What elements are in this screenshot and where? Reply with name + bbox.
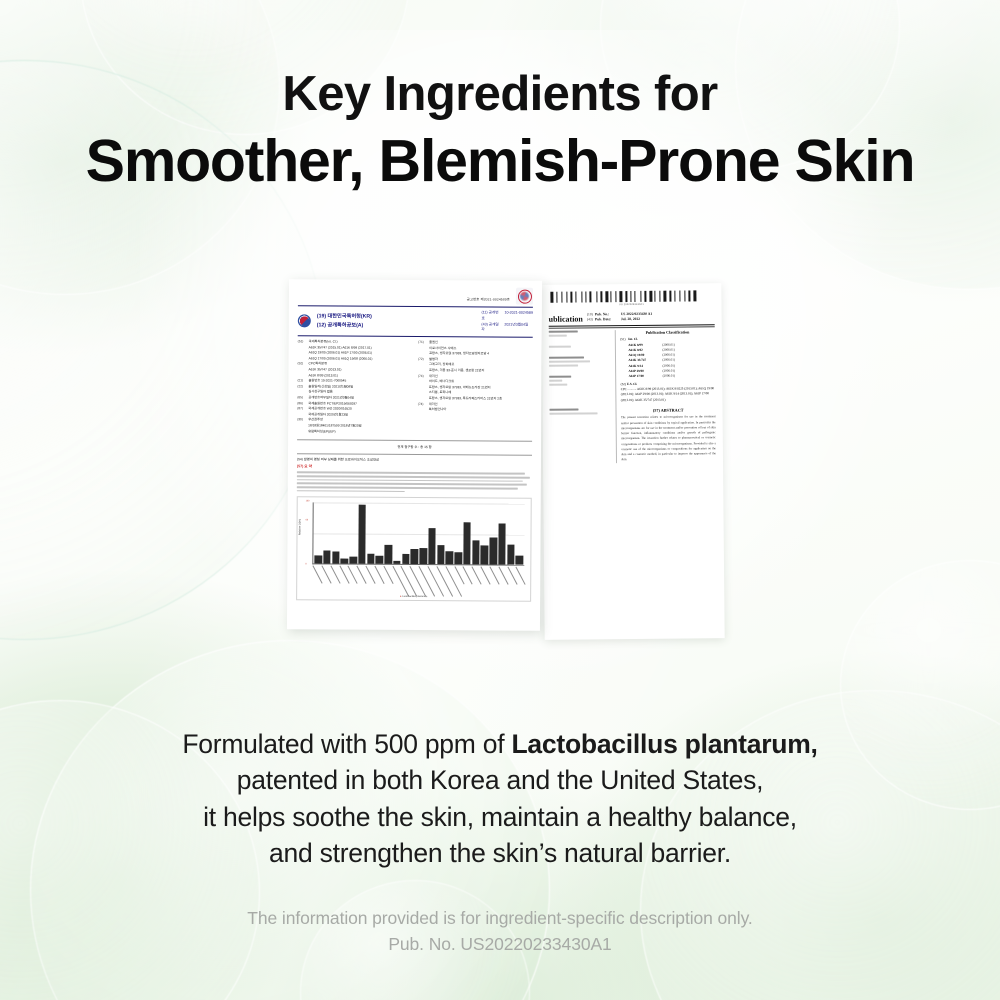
barcode-icon (550, 290, 712, 303)
chart-y-tick: 0 (305, 564, 306, 566)
chart-x-tick-label (313, 566, 321, 596)
korean-field-tag: (74) (418, 374, 429, 380)
us-patent-body: Publication Classification (51) Int. Cl.… (549, 330, 716, 464)
text-line (549, 357, 584, 359)
text-line (297, 479, 523, 482)
text-line (550, 412, 598, 414)
us-patent-publication-meta: (10) Pub. No.: US 2022/0233430 A1 (43) P… (587, 311, 715, 323)
abstract-heading: (57) ABSTRACT (621, 408, 716, 414)
body-copy-line-3: it helps soothe the skin, maintain a hea… (0, 799, 1000, 835)
korean-field-row: 유럽특허청(EP)(EP) (297, 429, 412, 435)
chart-bars (314, 503, 523, 565)
korean-field-tag: (74) (418, 402, 429, 408)
text-line (297, 472, 525, 475)
chart-bar (411, 549, 419, 564)
chart-bar (437, 545, 445, 565)
korean-field-text: 유럽특허청(EP)(EP) (308, 429, 412, 435)
chart-bar (358, 505, 366, 564)
us-cl-block: (52) U.S. Cl. CPC ........... A61K 8/99 … (621, 381, 716, 404)
disclaimer-line-1: The information provided is for ingredie… (0, 905, 1000, 931)
chart-bar (402, 554, 410, 564)
chart-x-tick-label (366, 566, 374, 596)
kipo-emblem-icon (298, 314, 311, 327)
barcode-bar (663, 291, 666, 302)
korean-field-tag: (22) (297, 384, 308, 390)
chart-x-axis-title: ● Lactobacillus plantarum (297, 595, 530, 599)
barcode-bar (593, 291, 596, 302)
chart-x-tick-label (384, 566, 392, 596)
chart-bar (507, 544, 515, 565)
chart-bar (332, 551, 340, 564)
us-cl-label: U.S. Cl. (627, 382, 637, 386)
korean-patent-document: 공고번호 제2021-0024589호 (19) 대한민국특허청(KR) (12… (287, 279, 542, 631)
korean-field-row: 특허법인나아 (418, 407, 533, 413)
reflection-us-sheet (543, 642, 723, 648)
text-line (549, 365, 578, 367)
korean-patent-top-code: 공고번호 제2021-0024589호 (467, 296, 510, 301)
chart-x-tick-label (472, 567, 480, 597)
ipc-row: A61P 17/00(2006.01) (621, 373, 716, 379)
divider (297, 439, 532, 441)
korean-field-tag: (71) (418, 340, 429, 346)
chart-x-tick-label (349, 566, 357, 596)
headline-line-1: Key Ingredients for (0, 70, 1000, 119)
korean-abstract-paragraph (297, 472, 532, 493)
barcode-bar (605, 291, 608, 302)
chart-x-tick-label (410, 566, 418, 596)
chart-x-title-text: Lactobacillus plantarum (402, 595, 427, 598)
chart-bar (323, 550, 331, 563)
kipo-meta-key: (11) 공개번호 (481, 310, 501, 322)
claims-count-line: 전체 청구항 수 : 총 15 항 (297, 443, 532, 449)
chart-x-tick-label (340, 566, 348, 596)
body-copy: Formulated with 500 ppm of Lactobacillus… (0, 726, 1000, 871)
chart-bar (454, 552, 462, 565)
us-cl-text: CPC ........... A61K 8/99 (2013.01); A61… (621, 386, 716, 403)
invention-title-tag: (54) (297, 458, 303, 462)
pub-date-code: (43) (587, 318, 593, 324)
korean-field-tag: (51) (298, 339, 309, 345)
abstract-tag: (57) (653, 408, 660, 413)
ipc-code-list: A61K 8/99(2006.01)A61K 8/02(2006.01)A61Q… (620, 342, 715, 380)
chart-x-tick-label (357, 566, 365, 596)
kipo-meta-value: 2021년3월04일 (504, 322, 528, 334)
body-copy-line-2: patented in both Korea and the United St… (0, 762, 1000, 798)
chart-x-tick-label (490, 567, 498, 597)
chart-x-tick-label (481, 567, 489, 597)
chart-x-tick-label (508, 567, 516, 597)
text-line (549, 346, 571, 348)
barcode-bar (583, 291, 585, 302)
kipo-office-line-1: (19) 대한민국특허청(KR) (317, 313, 372, 321)
chart-x-tick-label (499, 567, 507, 597)
text-line (549, 361, 590, 363)
us-cl-tag: (52) (621, 382, 626, 386)
kipo-meta-value: 10-2021-0024589 (504, 311, 532, 323)
korean-field-tag: (72) (418, 357, 429, 363)
disclaimer-line-2: Pub. No. US20220233430A1 (0, 931, 1000, 957)
patent-figure-bar-chart: Relative OD% 100 60 0 ● Lactobacillus pl… (296, 497, 532, 602)
barcode-bar (619, 291, 622, 302)
chart-x-tick-label (375, 566, 383, 596)
us-patent-title-word: ublication (549, 314, 583, 323)
text-line (549, 380, 562, 382)
barcode-bar (563, 292, 566, 303)
korean-patent-right-column: (71)출원인이로사이언스 사에스프랑스, 생자르먽 37933, 생자르망생자… (418, 340, 533, 436)
text-line (297, 490, 405, 492)
chart-x-tick-label (517, 567, 525, 597)
chart-x-tick-label (463, 567, 471, 597)
chart-x-tick-label (437, 566, 445, 596)
barcode-bar (644, 291, 646, 302)
chart-x-tick-mark (516, 567, 526, 585)
barcode-bar (570, 292, 572, 303)
text-line (297, 483, 527, 486)
korean-field-tag: (30) (297, 418, 308, 424)
body-copy-line-4: and strengthen the skin’s natural barrie… (0, 835, 1000, 871)
chart-x-tick-label (428, 566, 436, 596)
chart-bar (376, 556, 384, 565)
official-seal-icon (516, 288, 533, 305)
barcode-caption: US 20220233430A1 (548, 302, 714, 307)
patent-documents-group: US 20220233430A1 ublication (10) Pub. No… (0, 272, 1000, 732)
text-line (549, 409, 578, 411)
invention-title-text: 발명의 명칭 피부 상태를 위한 프로바이오틱스 조성대상 (304, 458, 379, 462)
barcode-bar (676, 291, 679, 302)
barcode-bar (697, 290, 698, 301)
barcode-bar (669, 291, 671, 302)
abstract-text: The present invention relates to microor… (621, 415, 716, 463)
chart-bar (314, 555, 322, 564)
chart-x-tick-label (402, 566, 410, 596)
spacer (549, 338, 612, 346)
ipc-code: A61P 17/00 (629, 374, 663, 380)
pub-date-value: Jul. 28, 2022 (621, 317, 640, 323)
chart-x-tick-label (446, 567, 454, 597)
abstract-label: (57) 요 약 (297, 465, 532, 471)
kipo-meta-key: (43) 공개일자 (481, 322, 501, 334)
chart-bar (349, 557, 357, 564)
text-line (549, 376, 571, 378)
chart-x-tick-label (331, 566, 339, 596)
korean-field-tag: (87) (297, 406, 308, 412)
abstract-heading-label: ABSTRACT (661, 408, 684, 413)
kipo-header: (19) 대한민국특허청(KR) (12) 공개특허공보(A) (11) 공개번… (298, 305, 533, 337)
chart-bar (419, 548, 427, 564)
chart-x-tick-label (419, 566, 427, 596)
korean-field-tag: (52) (298, 362, 309, 368)
chart-x-tick-label (393, 566, 401, 596)
text-line (297, 486, 518, 489)
disclaimer: The information provided is for ingredie… (0, 905, 1000, 958)
korean-patent-body: (51)국제특허분류(Int. Cl.)A61K 35/747 (2015.01… (297, 339, 533, 436)
body-copy-line-1: Formulated with 500 ppm of Lactobacillus… (0, 726, 1000, 762)
barcode-bar (682, 291, 684, 302)
invention-title-row: (54) 발명의 명칭 피부 상태를 위한 프로바이오틱스 조성대상 (297, 457, 532, 463)
barcode-bar (649, 291, 652, 302)
ipc-spacer (621, 374, 629, 379)
barcode-bar (590, 291, 592, 302)
chart-bar (481, 546, 489, 565)
spacer (549, 368, 612, 376)
chart-bar (367, 554, 375, 564)
barcode-bar (613, 291, 615, 302)
us-patent-right-column: Publication Classification (51) Int. Cl.… (615, 330, 716, 463)
kipo-office-line-2: (12) 공개특허공보(A) (317, 321, 372, 329)
barcode-bar (657, 291, 659, 302)
barcode-bar (632, 291, 634, 302)
us-patent-document: US 20220233430A1 ublication (10) Pub. No… (541, 283, 724, 640)
chart-bar (384, 545, 392, 564)
us-patent-title-row: ublication (10) Pub. No.: US 2022/023343… (549, 311, 715, 325)
us-patent-left-column (549, 330, 617, 463)
chart-x-tick-labels (313, 566, 524, 597)
text-line (549, 331, 578, 333)
chart-y-axis-label: Relative OD% (299, 519, 302, 535)
chart-bar (463, 522, 471, 565)
kipo-header-meta: (11) 공개번호10-2021-0024589(43) 공개일자2021년3월… (481, 310, 533, 333)
headline-line-2: Smoother, Blemish-Prone Skin (0, 127, 1000, 197)
poster-stage: Key Ingredients for Smoother, Blemish-Pr… (0, 0, 1000, 1000)
barcode-bar (558, 292, 560, 303)
barcode-bar (637, 291, 640, 302)
divider (297, 453, 532, 455)
barcode-bar (550, 292, 553, 303)
barcode-bar (625, 291, 627, 302)
page-title: Key Ingredients for Smoother, Blemish-Pr… (0, 70, 1000, 197)
spacer (549, 401, 612, 409)
body-copy-line-1-prefix: Formulated with 500 ppm of (182, 729, 511, 759)
ipc-year: (2006.01) (663, 374, 676, 379)
chart-y-tick: 60 (306, 520, 308, 522)
kipo-header-text: (19) 대한민국특허청(KR) (12) 공개특허공보(A) (317, 313, 372, 329)
chart-bar (516, 555, 524, 565)
barcode-bar (600, 291, 602, 302)
ingredient-name: Lactobacillus plantarum, (511, 729, 817, 759)
kipo-meta-row: (43) 공개일자2021년3월04일 (481, 322, 532, 334)
barcode-bar (577, 291, 580, 302)
classification-heading: Publication Classification (620, 330, 715, 336)
barcode-bar (688, 290, 690, 301)
chart-bar (341, 558, 349, 564)
chart-bar (472, 540, 480, 564)
barcode-bar (693, 290, 696, 301)
chart-x-tick-label (455, 567, 463, 597)
korean-patent-top-row: 공고번호 제2021-0024589호 (298, 286, 533, 304)
kipo-meta-row: (11) 공개번호10-2021-0024589 (481, 310, 532, 322)
chart-bar (428, 528, 436, 565)
chart-bar (489, 537, 497, 564)
chart-bar (498, 523, 506, 565)
korean-field-text: 특허법인나아 (429, 407, 533, 413)
chart-y-tick: 100 (306, 501, 310, 503)
chart-plot-area: 100 60 0 (312, 503, 524, 566)
chart-bar (446, 551, 454, 564)
korean-patent-left-column: (51)국제특허분류(Int. Cl.)A61K 35/747 (2015.01… (297, 339, 412, 435)
chart-x-tick-label (322, 566, 330, 596)
text-line (549, 335, 567, 337)
text-line (549, 384, 567, 386)
pub-date-label: Pub. Date: (595, 317, 619, 323)
text-line (297, 475, 530, 478)
chart-bar (393, 561, 401, 565)
